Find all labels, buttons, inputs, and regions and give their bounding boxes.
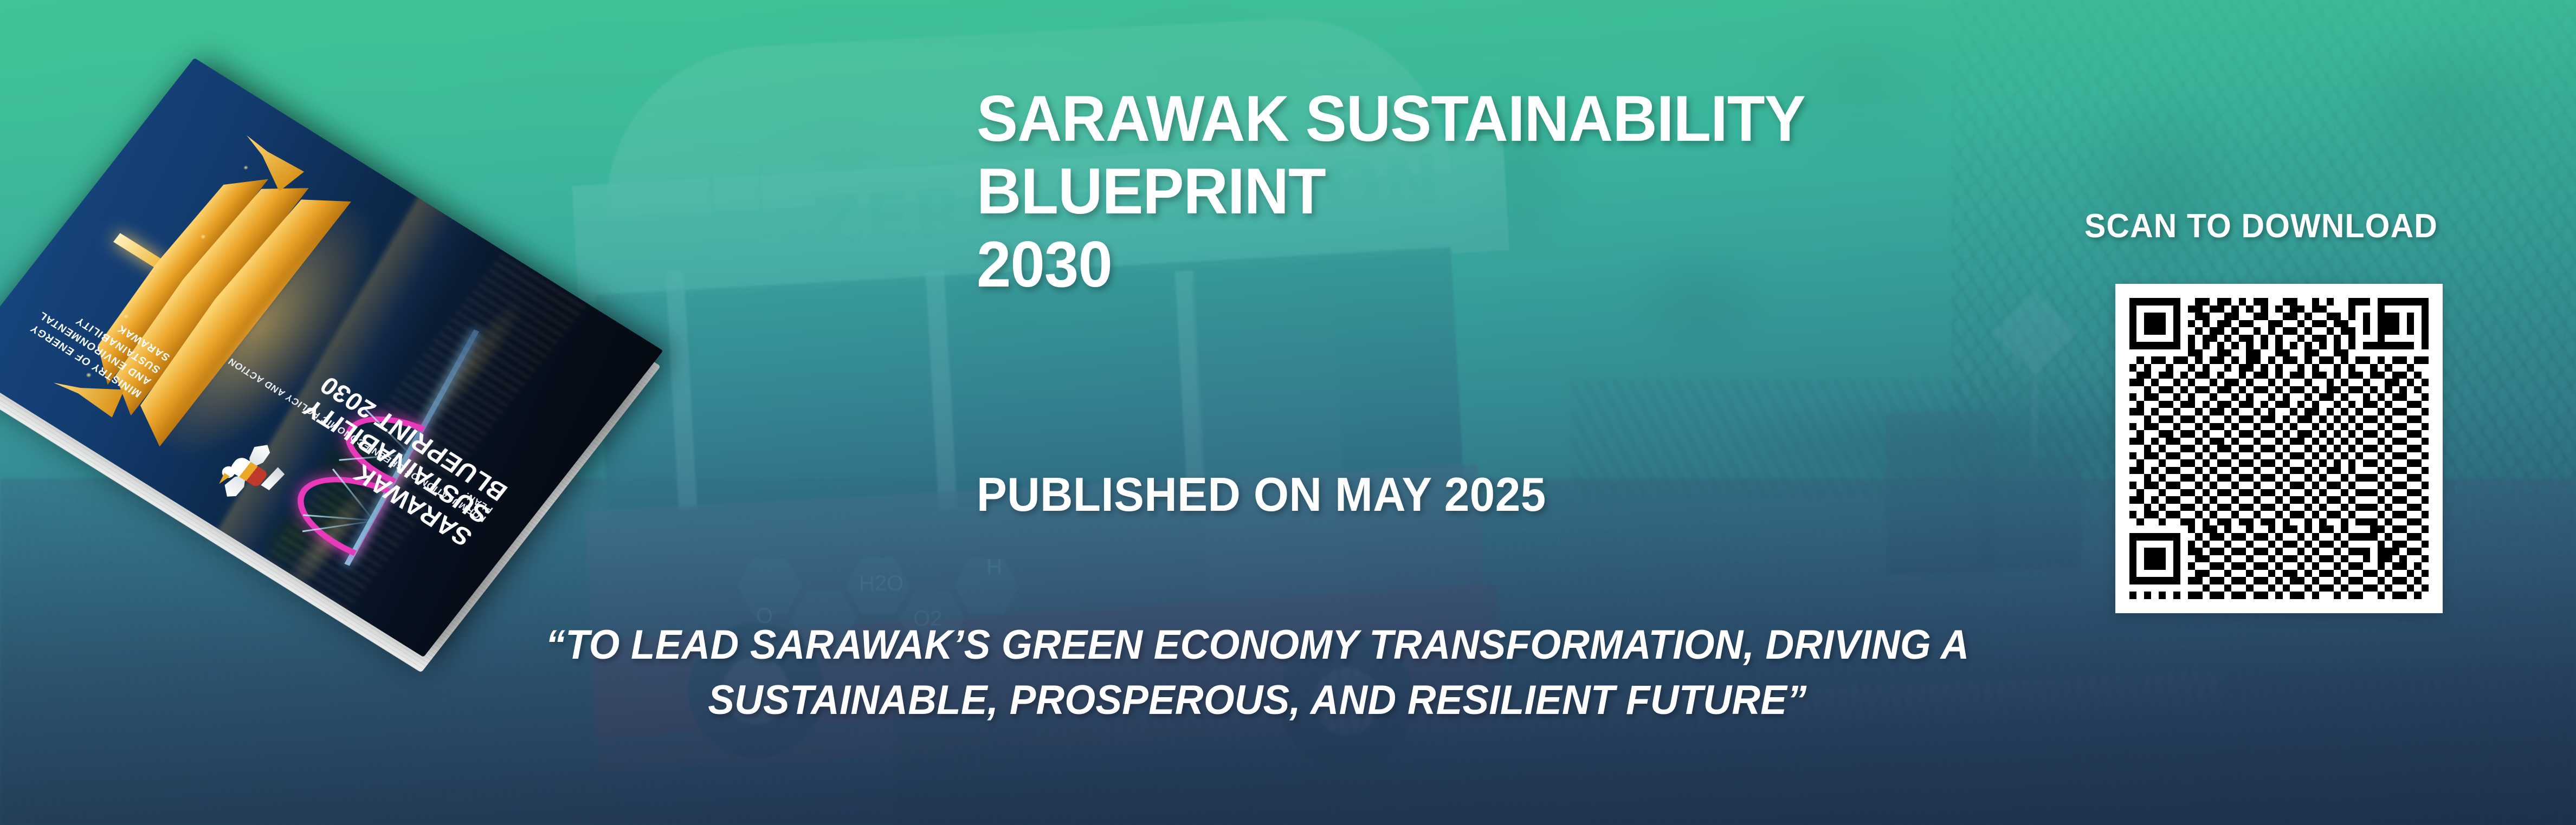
vision-statement: “TO LEAD SARAWAK’S GREEN ECONOMY TRANSFO… [446, 618, 2069, 728]
tagline-line-1: “TO LEAD SARAWAK’S GREEN ECONOMY TRANSFO… [446, 618, 2069, 673]
headline-line-1: SARAWAK SUSTAINABILITY BLUEPRINT [977, 82, 2006, 228]
publication-date: PUBLISHED ON MAY 2025 [977, 467, 1546, 522]
book-mockup: MINISTRY OF ENERGY AND ENVIRONMENTAL SUS… [76, 54, 878, 683]
page-title: SARAWAK SUSTAINABILITY BLUEPRINT 2030 [977, 82, 2006, 301]
sarawak-sustainability-blueprint-banner: ZERO EMISSION O H2O O2 H [0, 0, 2576, 825]
headline-line-2: 2030 [977, 228, 2006, 301]
qr-code-modules[interactable] [2129, 298, 2429, 599]
book-cover: MINISTRY OF ENERGY AND ENVIRONMENTAL SUS… [0, 58, 663, 657]
scan-to-download-label: SCAN TO DOWNLOAD [2084, 207, 2438, 245]
qr-code[interactable] [2115, 284, 2443, 613]
book: MINISTRY OF ENERGY AND ENVIRONMENTAL SUS… [0, 58, 663, 657]
tagline-line-2: SUSTAINABLE, PROSPEROUS, AND RESILIENT F… [446, 673, 2069, 728]
